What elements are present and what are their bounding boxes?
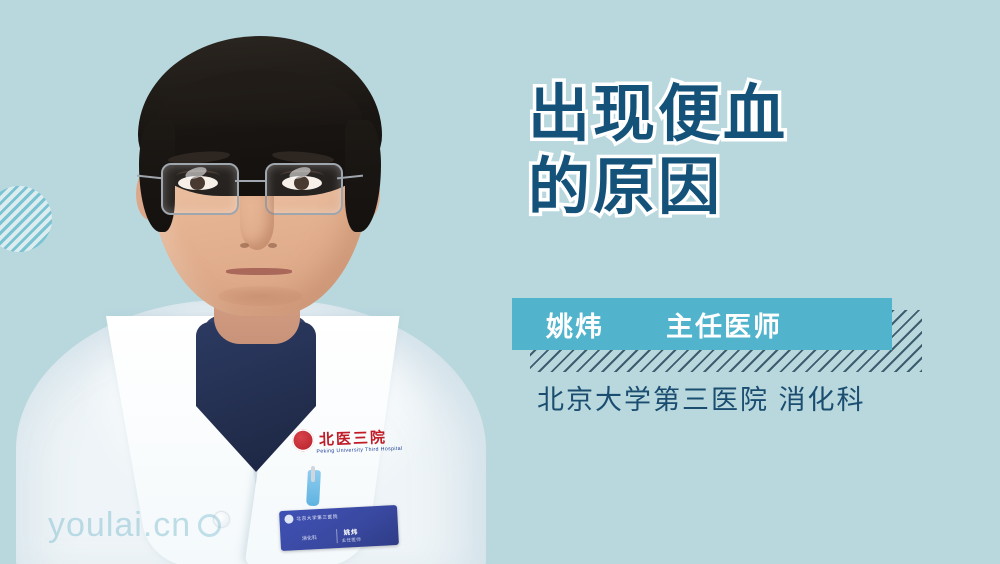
speaker-name: 姚炜 (546, 305, 604, 344)
site-watermark: youlai.cn (48, 506, 221, 545)
id-badge-organization: 北京大学第三医院 (296, 514, 338, 522)
id-badge-name: 姚炜 (341, 527, 361, 537)
title-line-2: 的原因 (528, 151, 788, 224)
id-badge-body: 消化科 姚炜 主任医师 (286, 525, 394, 547)
chin-shadow (218, 286, 302, 306)
speaker-badge-bar: 姚炜 主任医师 (512, 298, 892, 350)
chest-hospital-logo: 北医三院 Peking University Third Hospital (292, 426, 388, 451)
speaker-affiliation: 北京大学第三医院 消化科 (537, 378, 866, 417)
watermark-text: youlai.cn (48, 506, 191, 545)
hospital-seal-icon (292, 429, 315, 452)
title-line-1: 出现便血 (528, 78, 788, 151)
id-badge-title: 主任医师 (342, 537, 362, 544)
page-title: 出现便血 的原因 (528, 78, 788, 224)
id-badge-identity: 姚炜 主任医师 (341, 527, 361, 544)
university-crest-icon (284, 514, 293, 523)
chest-logo-chinese: 北医三院 (319, 430, 387, 447)
nostril-right (268, 243, 277, 248)
speaker-badge: 姚炜 主任医师 (512, 298, 922, 372)
id-badge-department: 消化科 (286, 533, 332, 542)
watermark-dot-icon (198, 514, 221, 537)
id-badge-header: 北京大学第三医院 (284, 512, 338, 524)
mouth (226, 268, 292, 275)
id-badge-divider (336, 529, 338, 543)
video-thumbnail-canvas: 北医三院 Peking University Third Hospital 北京… (0, 0, 1000, 564)
nose (240, 196, 274, 250)
speaker-role: 主任医师 (666, 305, 782, 344)
pen-clip (311, 466, 315, 482)
doctor-portrait-photo: 北医三院 Peking University Third Hospital 北京… (0, 0, 520, 564)
staff-id-badge: 北京大学第三医院 消化科 姚炜 主任医师 (279, 505, 399, 551)
nostril-left (240, 243, 249, 248)
eyeglass-bridge (235, 180, 265, 182)
